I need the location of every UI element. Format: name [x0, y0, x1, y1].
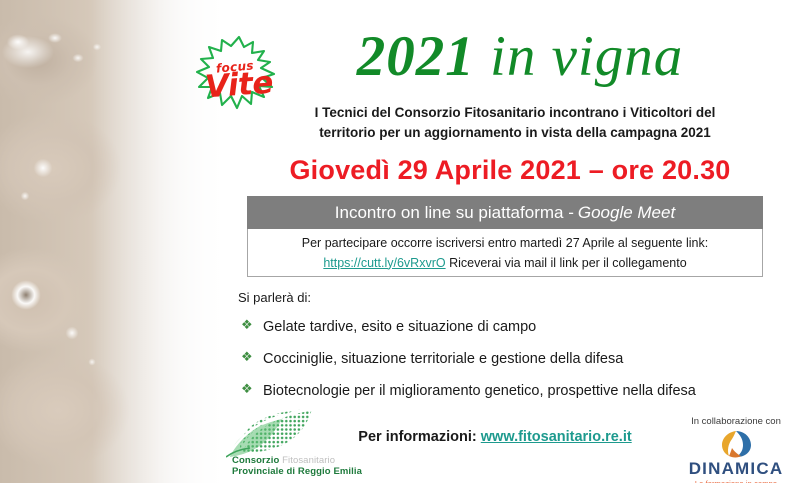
registration-box: Per partecipare occorre iscriversi entro…: [247, 229, 763, 277]
dinamica-swirl-icon: [719, 429, 753, 459]
agenda-item-label: Biotecnologie per il miglioramento genet…: [263, 382, 696, 400]
subtitle: I Tecnici del Consorzio Fitosanitario in…: [280, 103, 750, 142]
platform-name: Google Meet: [578, 203, 675, 223]
registration-line-2-tail: Riceverai via mail il link per il colleg…: [446, 256, 687, 270]
subtitle-line-2: territorio per un aggiornamento in vista…: [280, 123, 750, 143]
platform-text: Incontro on line su piattaforma -: [335, 203, 574, 223]
flyer-page: focus Vite 2021 in vigna I Tecnici del C…: [0, 0, 800, 483]
floret-bullet-icon: ❖: [238, 350, 263, 366]
focus-vite-big-word: Vite: [204, 68, 274, 104]
consorzio-name-light: Fitosanitario: [282, 455, 335, 466]
info-line: Per informazioni: www.fitosanitario.re.i…: [330, 429, 660, 445]
floret-bullet-icon: ❖: [238, 382, 263, 398]
agenda-item-label: Gelate tardive, esito e situazione di ca…: [263, 318, 536, 336]
title-year: 2021: [357, 25, 475, 88]
dinamica-name: DINAMICA: [672, 460, 800, 477]
dinamica-logo: DINAMICA La formazione in campo: [672, 429, 800, 483]
dinamica-tagline: La formazione in campo: [672, 479, 800, 483]
title-word: vigna: [552, 25, 684, 88]
agenda-section: Si parlerà di: ❖ Gelate tardive, esito e…: [238, 290, 778, 414]
consorzio-name-bold: Consorzio: [232, 455, 279, 466]
list-item: ❖ Biotecnologie per il miglioramento gen…: [238, 382, 778, 400]
consorzio-subtitle: Provinciale di Reggio Emilia: [232, 466, 362, 477]
info-label: Per informazioni:: [358, 429, 476, 445]
registration-link[interactable]: https://cutt.ly/6vRxvrO: [323, 256, 445, 270]
registration-line-1: Per partecipare occorre iscriversi entro…: [302, 233, 708, 253]
title-in: in: [490, 25, 536, 88]
website-link[interactable]: www.fitosanitario.re.it: [481, 429, 632, 445]
subtitle-line-1: I Tecnici del Consorzio Fitosanitario in…: [280, 103, 750, 123]
event-date-time: Giovedì 29 Aprile 2021 – ore 20.30: [255, 155, 765, 186]
agenda-item-label: Cocciniglie, situazione territoriale e g…: [263, 350, 623, 368]
list-item: ❖ Cocciniglie, situazione territoriale e…: [238, 350, 778, 368]
registration-line-2: https://cutt.ly/6vRxvrO Riceverai via ma…: [323, 253, 686, 273]
platform-bar: Incontro on line su piattaforma - Google…: [247, 196, 763, 229]
consorzio-name-line: Consorzio Fitosanitario: [232, 455, 335, 466]
floret-bullet-icon: ❖: [238, 318, 263, 334]
collaboration-label: In collaborazione con: [672, 416, 800, 427]
list-item: ❖ Gelate tardive, esito e situazione di …: [238, 318, 778, 336]
page-title: 2021 in vigna: [280, 28, 760, 85]
focus-vite-logo: focus Vite: [196, 34, 282, 116]
agenda-lead: Si parlerà di:: [238, 290, 778, 305]
